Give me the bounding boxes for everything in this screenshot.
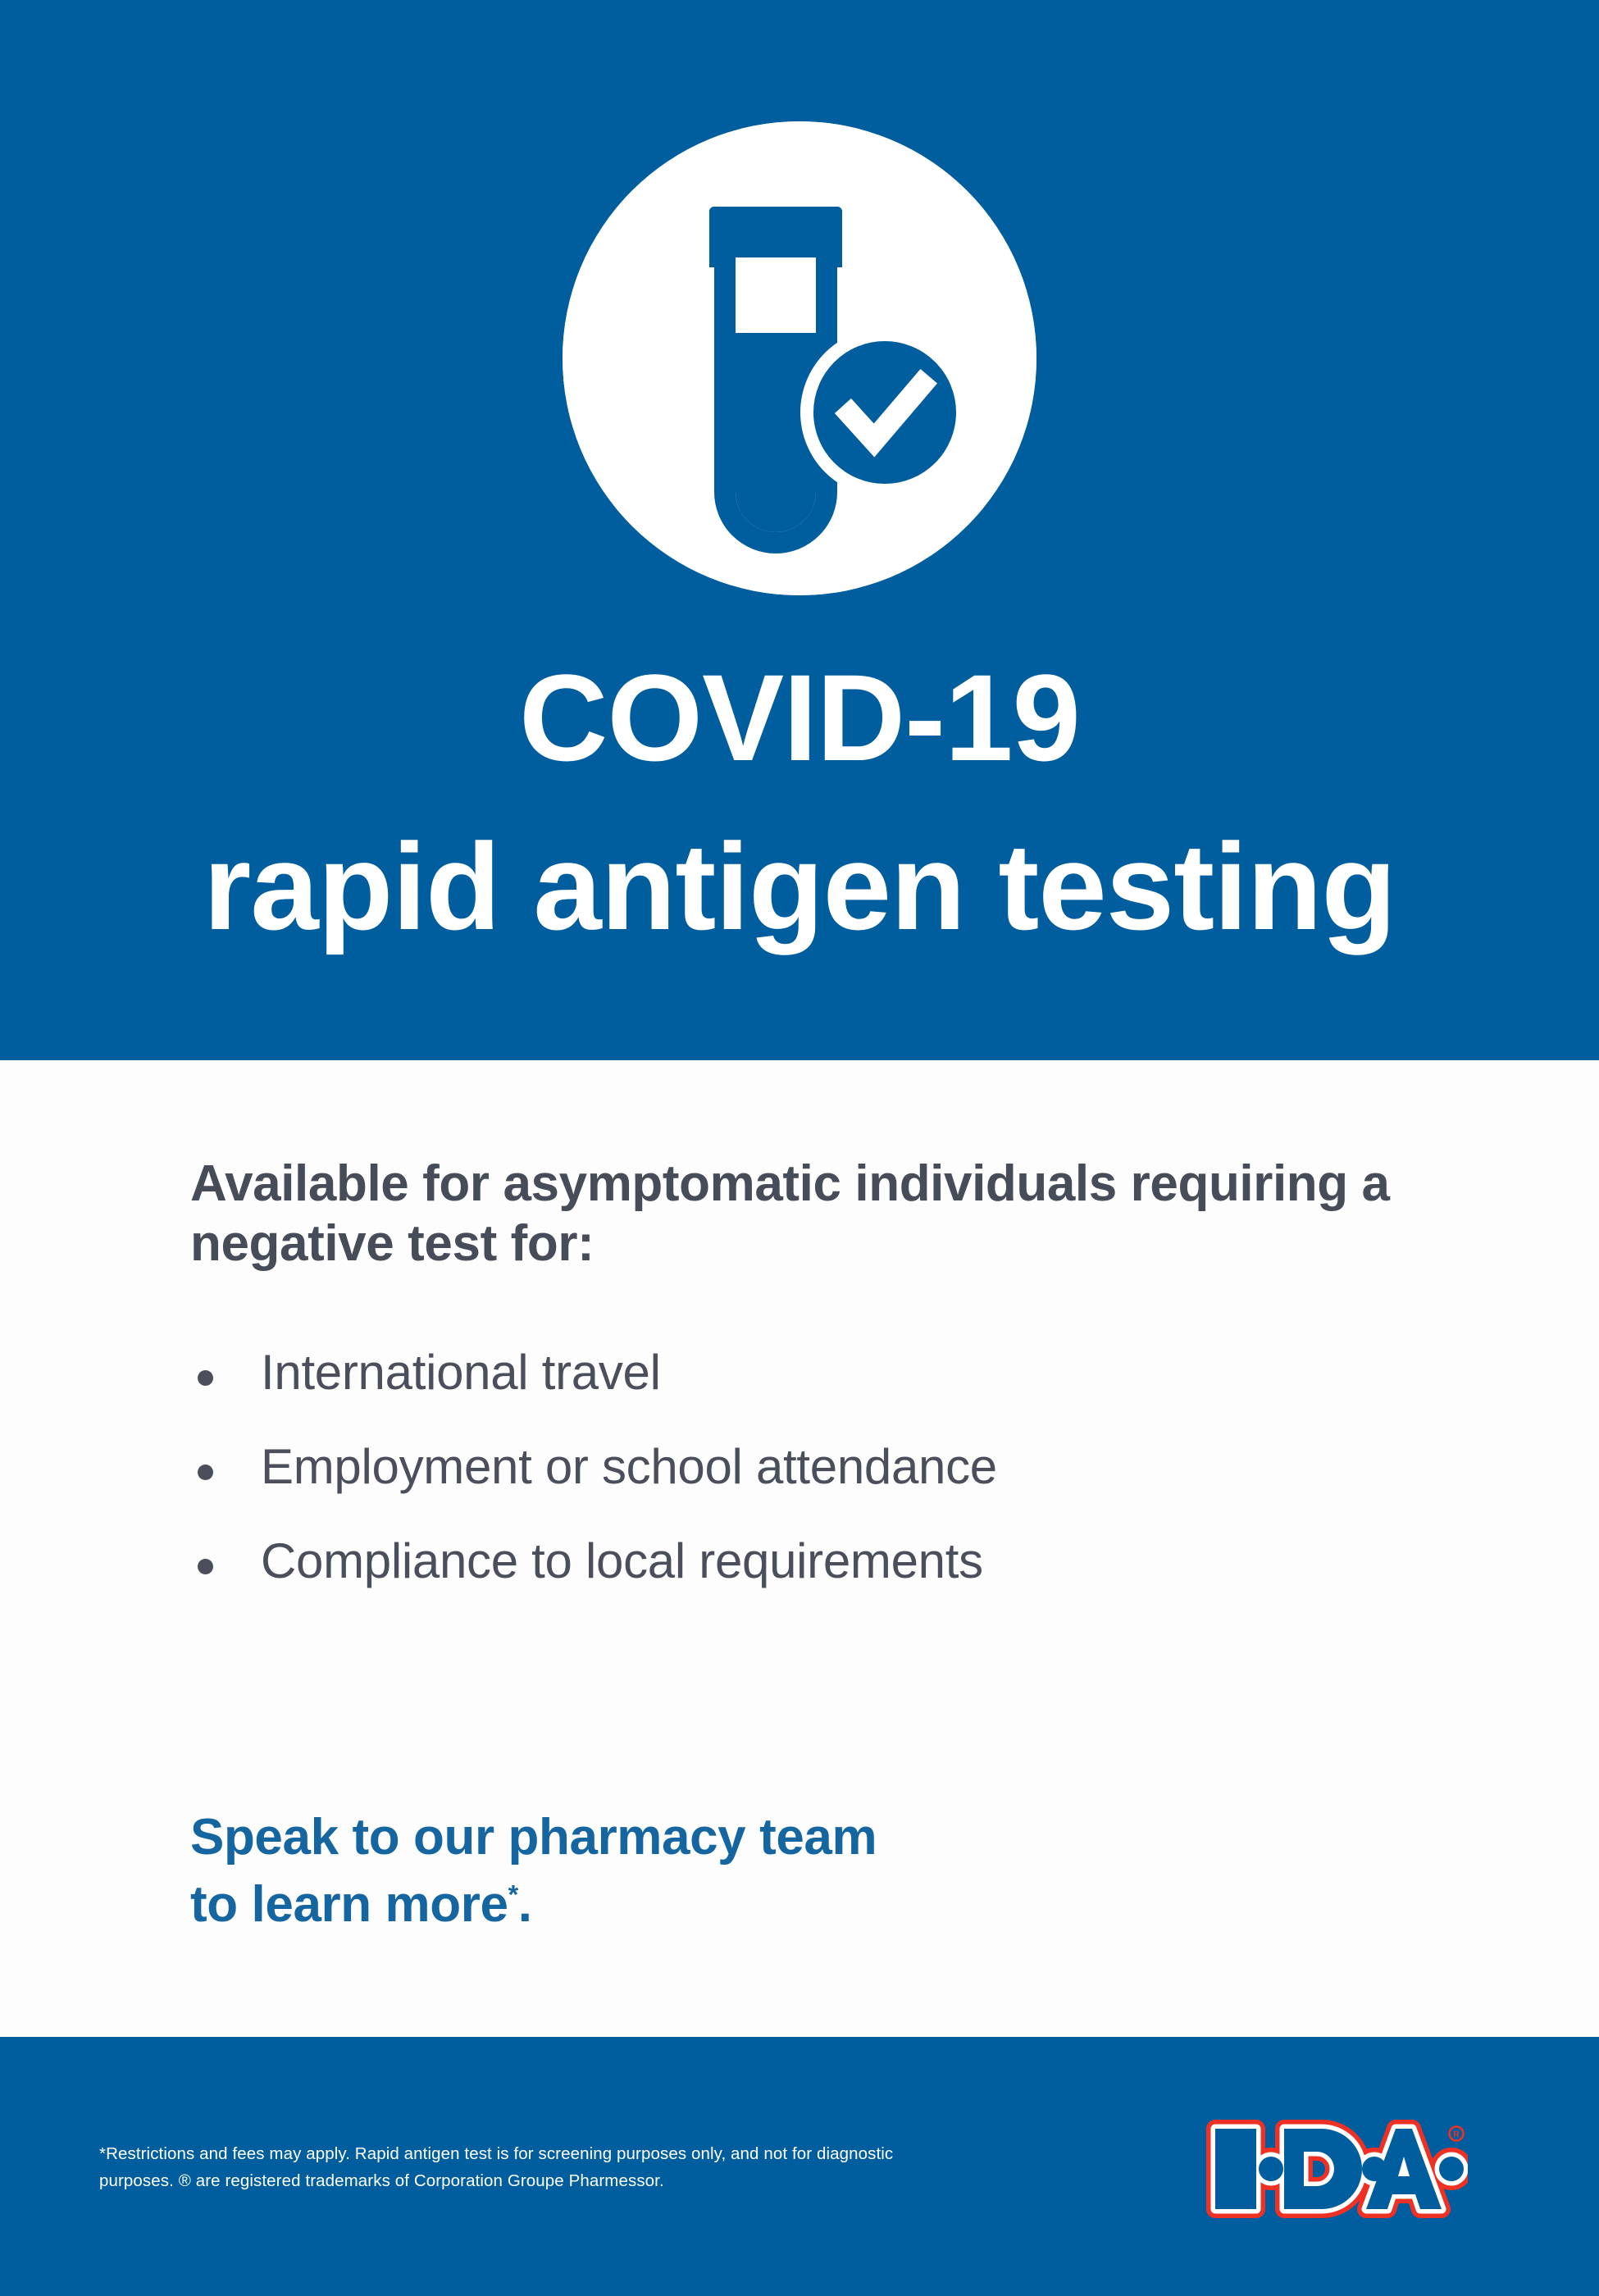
ida-pharmacy-logo: R	[1205, 2116, 1468, 2222]
list-item-label: International travel	[261, 1345, 661, 1400]
cta-line-2: to learn more*.	[190, 1871, 1420, 1938]
cta-line-1: Speak to our pharmacy team	[190, 1804, 1420, 1871]
list-item: Employment or school attendance	[190, 1442, 1502, 1492]
disclaimer-line-1: *Restrictions and fees may apply. Rapid …	[99, 2140, 968, 2167]
cta-period: .	[518, 1876, 532, 1933]
test-tube-with-checkmark-icon	[563, 121, 1036, 595]
page-title: COVID-19 rapid antigen testing	[0, 656, 1599, 948]
cta-asterisk: *	[508, 1879, 518, 1909]
footer-band: *Restrictions and fees may apply. Rapid …	[0, 2037, 1599, 2296]
title-line-1: COVID-19	[0, 656, 1599, 779]
svg-text:R: R	[1453, 2130, 1460, 2139]
list-item-label: Compliance to local requirements	[261, 1533, 983, 1588]
list-item: International travel	[190, 1347, 1502, 1398]
intro-heading: Available for asymptomatic individuals r…	[190, 1155, 1486, 1273]
bullet-dot-icon	[198, 1370, 213, 1386]
poster-root: COVID-19 rapid antigen testing Available…	[0, 0, 1599, 2296]
bullet-dot-icon	[198, 1559, 213, 1574]
main-content: Available for asymptomatic individuals r…	[0, 1060, 1599, 2037]
disclaimer-line-2: purposes. ® are registered trademarks of…	[99, 2167, 968, 2194]
title-line-2: rapid antigen testing	[0, 825, 1599, 948]
disclaimer-text: *Restrictions and fees may apply. Rapid …	[99, 2140, 968, 2194]
cta-line-2-text: to learn more	[190, 1876, 508, 1933]
bullet-dot-icon	[198, 1465, 213, 1480]
eligibility-list: International travel Employment or schoo…	[190, 1347, 1502, 1629]
list-item-label: Employment or school attendance	[261, 1439, 997, 1494]
list-item: Compliance to local requirements	[190, 1536, 1502, 1587]
header-band: COVID-19 rapid antigen testing	[0, 0, 1599, 1060]
call-to-action: Speak to our pharmacy team to learn more…	[190, 1804, 1420, 1938]
